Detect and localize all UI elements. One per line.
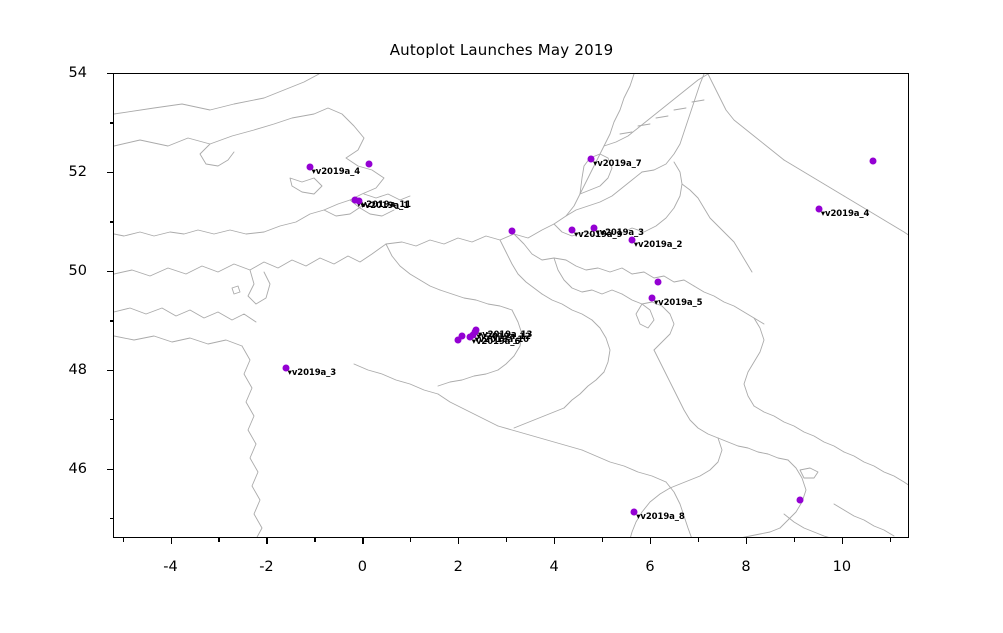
scatter-point-label: ▾v2019a_1 — [361, 201, 409, 211]
scatter-marker — [509, 227, 516, 234]
scatter-point-label: ▾v2019a_3 — [288, 368, 336, 378]
x-tick-label: 0 — [358, 559, 367, 575]
scatter-marker — [869, 157, 876, 164]
y-minor-tick — [110, 122, 114, 123]
x-minor-tick — [794, 538, 795, 542]
y-tick — [107, 73, 113, 74]
x-minor-tick — [602, 538, 603, 542]
x-tick — [171, 538, 172, 544]
y-tick — [107, 370, 113, 371]
x-minor-tick — [410, 538, 411, 542]
scatter-point-label: ▾v2019a_13 — [478, 330, 532, 340]
x-minor-tick — [506, 538, 507, 542]
scatter-points-layer: ▾v2019a_4▾v2019a_11▾v2019a_1▾v2019a_7▾v2… — [114, 74, 909, 538]
x-tick — [458, 538, 459, 544]
y-tick-label: 52 — [69, 164, 87, 180]
x-tick-label: -2 — [259, 559, 273, 575]
page-title: Autoplot Launches May 2019 — [0, 41, 1003, 59]
y-tick — [107, 271, 113, 272]
y-tick-label: 46 — [69, 461, 87, 477]
scatter-marker — [796, 497, 803, 504]
scatter-point-label: ▾v2019a_4 — [312, 167, 360, 177]
x-tick-label: 2 — [454, 559, 463, 575]
scatter-point-label: ▾v2019a_7 — [593, 159, 641, 169]
plot-area: ▾v2019a_4▾v2019a_11▾v2019a_1▾v2019a_7▾v2… — [113, 73, 909, 538]
x-tick — [362, 538, 363, 544]
y-tick-label: 50 — [69, 263, 87, 279]
scatter-point-label: ▾v2019a_5 — [654, 298, 702, 308]
x-minor-tick — [698, 538, 699, 542]
x-tick-label: 6 — [645, 559, 654, 575]
y-tick — [107, 172, 113, 173]
y-minor-tick — [110, 518, 114, 519]
x-tick — [650, 538, 651, 544]
scatter-point-label: ▾v2019a_3 — [596, 228, 644, 238]
x-tick-label: -4 — [163, 559, 177, 575]
x-tick — [842, 538, 843, 544]
scatter-point-label: ▾v2019a_8 — [636, 512, 684, 522]
scatter-marker — [455, 337, 462, 344]
x-tick — [554, 538, 555, 544]
y-minor-tick — [110, 221, 114, 222]
x-tick-label: 10 — [833, 559, 851, 575]
x-minor-tick — [123, 538, 124, 542]
x-tick-label: 4 — [550, 559, 559, 575]
y-tick-label: 48 — [69, 362, 87, 378]
scatter-marker — [655, 278, 662, 285]
y-minor-tick — [110, 419, 114, 420]
x-tick-label: 8 — [741, 559, 750, 575]
x-minor-tick — [890, 538, 891, 542]
scatter-point-label: ▾v2019a_2 — [634, 240, 682, 250]
y-minor-tick — [110, 320, 114, 321]
scatter-marker — [366, 161, 373, 168]
x-tick — [746, 538, 747, 544]
x-minor-tick — [314, 538, 315, 542]
figure-canvas: Autoplot Launches May 2019 — [0, 0, 1003, 633]
x-minor-tick — [218, 538, 219, 542]
scatter-point-label: ▾v2019a_4 — [821, 209, 869, 219]
x-tick — [266, 538, 267, 544]
y-tick-label: 54 — [69, 65, 87, 81]
y-tick — [107, 469, 113, 470]
